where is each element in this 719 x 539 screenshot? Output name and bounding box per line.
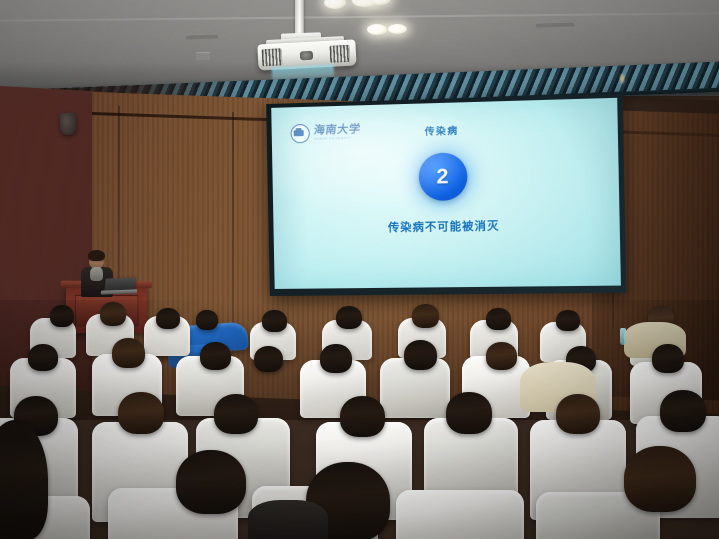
water-bottle	[620, 328, 626, 345]
audience-head	[556, 310, 580, 331]
audience-head	[412, 304, 439, 328]
audience-head	[254, 346, 283, 372]
audience-head	[100, 302, 126, 326]
slide-caption: 传染病不可能被消灭	[273, 215, 619, 237]
audience-head	[112, 338, 145, 368]
slide-number-badge: 2	[418, 152, 467, 201]
audience-head	[404, 340, 437, 370]
wall-speaker-icon	[59, 113, 76, 136]
audience-head	[556, 394, 600, 434]
audience-head	[336, 306, 362, 329]
audience-head	[486, 308, 511, 330]
lecture-hall-photo: 海南大学 HAINAN UNIVERSITY 传染病 2 传染病不可能被消灭	[0, 0, 719, 539]
audience-head	[446, 392, 492, 434]
ceiling-fixture-icon	[196, 52, 210, 60]
audience-head	[262, 310, 287, 332]
seat	[396, 490, 524, 539]
audience-shoulders	[248, 500, 328, 539]
projector-vent-icon	[262, 48, 283, 66]
audience-head	[624, 446, 696, 512]
ceiling-vent-icon	[186, 33, 218, 39]
projector-lens-icon	[300, 51, 313, 61]
audience-head	[486, 342, 517, 370]
projector-mount-pole	[295, 0, 304, 36]
ceiling-vent-icon	[536, 22, 574, 28]
slide-badge-number: 2	[436, 166, 448, 188]
audience-head	[50, 305, 74, 327]
ceiling-light-icon	[367, 24, 387, 35]
audience-head	[200, 342, 231, 370]
projection-screen: 海南大学 HAINAN UNIVERSITY 传染病 2 传染病不可能被消灭	[271, 98, 621, 289]
presenter-scarf	[90, 267, 103, 281]
slide-title: 传染病	[272, 119, 618, 142]
presenter-hair	[88, 250, 105, 261]
audience-head	[214, 394, 258, 434]
projector-vent-icon	[329, 45, 350, 63]
audience-head	[28, 344, 58, 371]
audience-head	[118, 392, 164, 434]
presenter-laptop	[104, 277, 136, 291]
audience-area	[0, 300, 719, 539]
audience-head	[156, 308, 180, 329]
audience-head	[196, 310, 218, 330]
audience-head	[652, 344, 684, 373]
audience-head	[340, 396, 385, 437]
wall-seam	[232, 112, 234, 332]
ceiling-light-icon	[388, 24, 407, 34]
ceiling-light-icon	[324, 0, 346, 9]
projection-screen-frame: 海南大学 HAINAN UNIVERSITY 传染病 2 传染病不可能被消灭	[266, 94, 626, 296]
audience-head	[320, 344, 352, 373]
ceiling-seam	[0, 12, 719, 22]
audience-head	[660, 390, 706, 432]
audience-head	[176, 450, 246, 514]
louver-light-glint	[620, 73, 625, 83]
